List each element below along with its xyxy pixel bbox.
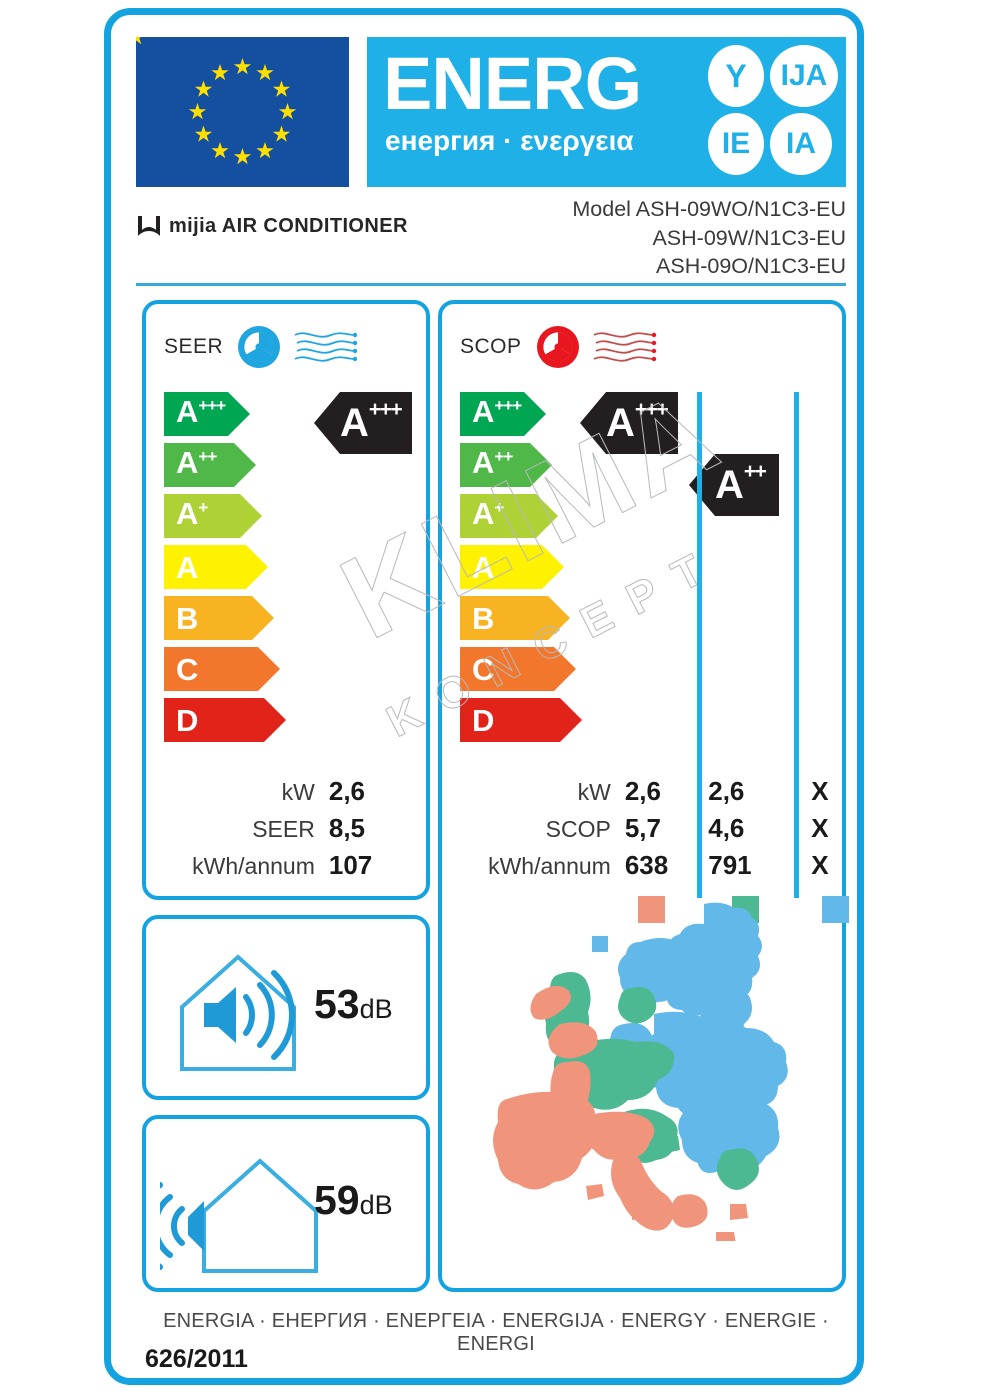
cooling-kwh-value: 107 [315,850,416,881]
table-row: kW 2,6 [158,776,416,813]
energy-class-plus: ++ [494,447,512,466]
table-row: SCOP 5,7 4,6 X [442,813,842,850]
energy-class-arrow-tip [234,443,256,487]
cooling-panel: SEER A [142,300,430,900]
heating-rating-badge-colder: A++ [689,454,779,516]
energy-class-arrow-tip [536,494,558,538]
circle-ia: IA [770,113,832,175]
energy-class-arrow-tip [542,545,564,589]
heating-energy-scale: A+++A++A+ABCD [460,392,582,749]
energy-class-bar-d: D [460,698,582,742]
circle-y: Y [708,45,764,107]
indoor-noise-value: 53 [314,981,360,1027]
badge-plus: +++ [369,398,401,422]
energy-class-arrow-tip [252,596,274,640]
table-row: kW 2,6 2,6 X [442,776,842,813]
energy-class-bar-c: C [164,647,286,691]
energy-class-letter: A [472,552,494,583]
brand-logo-group: mijia AIR CONDITIONER [136,213,408,239]
europe-map-svg [472,896,817,1241]
table-row: SEER 8,5 [158,813,416,850]
badge-letter: A [340,403,369,443]
energy-class-bar-a1: A+ [460,494,582,538]
energy-class-letter: C [472,654,494,685]
table-row: kWh/annum 107 [158,850,416,887]
energy-class-letter: A+ [176,498,207,534]
energy-class-letter: A++ [472,447,512,483]
energy-class-plus: + [198,498,207,517]
cooling-title: SEER [164,335,223,359]
energy-class-body: A+ [164,494,240,538]
energy-class-body: D [164,698,264,742]
energy-class-bar-d: D [164,698,286,742]
energy-class-letter: B [176,603,198,634]
header-divider [136,283,846,286]
energy-class-bar-a: A [460,545,582,589]
energy-class-body: A+++ [460,392,524,436]
energy-class-arrow-tip [258,647,280,691]
energy-class-plus: +++ [198,396,225,415]
energy-class-bar-b: B [164,596,286,640]
energy-class-letter: A+++ [472,396,521,432]
cooling-fan-icon [235,324,291,370]
airflow-icon [590,327,662,367]
energy-class-bar-a2: A++ [164,443,286,487]
energy-class-arrow-tip [264,698,286,742]
energy-class-bar-c: C [460,647,582,691]
energy-class-plus: + [494,498,503,517]
heating-rating-badge-average: A+++ [580,392,678,454]
footer-languages: ENERGIA · ЕНЕРГИЯ · ΕΝΕΡΓΕΙΑ · ENERGIJA … [146,1310,846,1356]
heating-scop-colder: 4,6 [691,813,797,844]
energ-subtitle: енергия · ενεργεια [385,125,634,157]
circle-ie: IE [708,113,764,175]
energy-class-arrow-tip [524,392,546,436]
badge-letter: A [715,465,744,505]
energ-banner: ENERG енергия · ενεργεια Y IJA IE IA [367,37,846,187]
badge-letter: A [606,403,635,443]
energy-class-body: B [460,596,548,640]
energy-class-letter: C [176,654,198,685]
energy-class-body: A++ [164,443,234,487]
heating-fan-icon [534,324,590,370]
energy-class-arrow-tip [560,698,582,742]
cooling-rating-badge: A+++ [314,392,412,454]
model-line-2: ASH-09W/N1C3-EU [572,224,846,253]
cooling-energy-scale: A+++A++A+ABCD [164,392,286,749]
airflow-icon [291,327,363,367]
europe-climate-map [472,896,817,1241]
energy-class-letter: A [176,552,198,583]
badge-plus: +++ [635,398,667,422]
cooling-seer-value: 8,5 [315,813,416,844]
energy-class-body: A++ [460,443,530,487]
energy-class-body: A [164,545,246,589]
energ-title: ENERG [383,49,641,119]
swatch-warmer-climate [822,896,849,923]
heating-panel: SCOP A [438,300,846,1292]
energy-class-letter: A+ [472,498,503,534]
indoor-noise-house-icon [168,941,308,1081]
heating-header: SCOP [460,324,662,370]
energy-class-body: C [164,647,258,691]
heating-kw-colder: 2,6 [691,776,797,807]
energy-class-arrow-tip [240,494,262,538]
energy-class-arrow-tip [554,647,576,691]
cooling-values-table: kW 2,6 SEER 8,5 kWh/annum 107 [158,776,416,887]
model-line-3: ASH-09O/N1C3-EU [572,252,846,281]
eu-stars-svg [136,37,349,187]
energy-class-arrow-tip [530,443,552,487]
model-line-1: Model ASH-09WO/N1C3-EU [572,195,846,224]
energy-class-arrow-tip [228,392,250,436]
energy-class-bar-a3: A+++ [164,392,286,436]
energy-class-letter: D [176,705,198,736]
energy-class-bar-a: A [164,545,286,589]
outdoor-noise-panel: 59dB [142,1115,430,1292]
energy-class-body: B [164,596,252,640]
energy-class-bar-a2: A++ [460,443,582,487]
heating-kw-average: 2,6 [611,776,691,807]
indoor-noise-unit: dB [360,994,393,1024]
outdoor-noise-value: 59 [314,1177,360,1223]
heating-kw-warmer: X [798,776,842,807]
energy-class-body: A+ [460,494,536,538]
energy-class-letter: B [472,603,494,634]
table-row: kWh/annum 638 791 X [442,850,842,887]
heating-scop-label: SCOP [442,816,611,843]
energy-class-letter: D [472,705,494,736]
energy-class-body: A+++ [164,392,228,436]
energy-class-body: C [460,647,554,691]
cooling-kw-label: kW [158,779,315,806]
energy-label-frame: ENERG енергия · ενεργεια Y IJA IE IA mij… [104,8,864,1385]
outdoor-noise-unit: dB [360,1190,393,1220]
energy-class-bar-b: B [460,596,582,640]
heating-scop-warmer: X [798,813,842,844]
heating-kwh-colder: 791 [691,850,797,881]
brand-row: mijia AIR CONDITIONER Model ASH-09WO/N1C… [136,195,846,277]
badge-plus: ++ [744,460,766,484]
circle-ija: IJA [770,45,838,107]
energy-class-bar-a1: A+ [164,494,286,538]
cooling-kw-value: 2,6 [315,776,416,807]
heating-scop-average: 5,7 [611,813,691,844]
mijia-logo-icon [136,213,162,239]
heating-title: SCOP [460,335,522,359]
energy-class-letter: A++ [176,447,216,483]
cooling-kwh-label: kWh/annum [158,853,315,880]
eu-flag-icon [136,37,349,187]
heating-kwh-warmer: X [798,850,842,881]
heating-kwh-average: 638 [611,850,691,881]
energy-class-body: A [460,545,542,589]
energy-class-body: D [460,698,560,742]
heating-kw-label: kW [442,779,611,806]
model-list: Model ASH-09WO/N1C3-EU ASH-09W/N1C3-EU A… [572,195,846,281]
indoor-noise-value-group: 53dB [314,981,393,1028]
cooling-seer-label: SEER [158,816,315,843]
outdoor-noise-house-icon [160,1139,330,1279]
energy-class-plus: +++ [494,396,521,415]
heating-values-table: kW 2,6 2,6 X SCOP 5,7 4,6 X kWh/annum 63… [442,776,842,887]
footer-regulation: 626/2011 [145,1345,248,1374]
energy-class-letter: A+++ [176,396,225,432]
energy-class-bar-a3: A+++ [460,392,582,436]
cooling-header: SEER [164,324,363,370]
outdoor-noise-value-group: 59dB [314,1177,393,1224]
heating-kwh-label: kWh/annum [442,853,611,880]
brand-name: mijia AIR CONDITIONER [169,215,408,238]
energy-class-arrow-tip [548,596,570,640]
energy-class-arrow-tip [246,545,268,589]
energy-class-plus: ++ [198,447,216,466]
indoor-noise-panel: 53dB [142,915,430,1100]
label-header: ENERG енергия · ενεργεια Y IJA IE IA [136,37,846,187]
language-circles: Y IJA IE IA [708,45,838,179]
